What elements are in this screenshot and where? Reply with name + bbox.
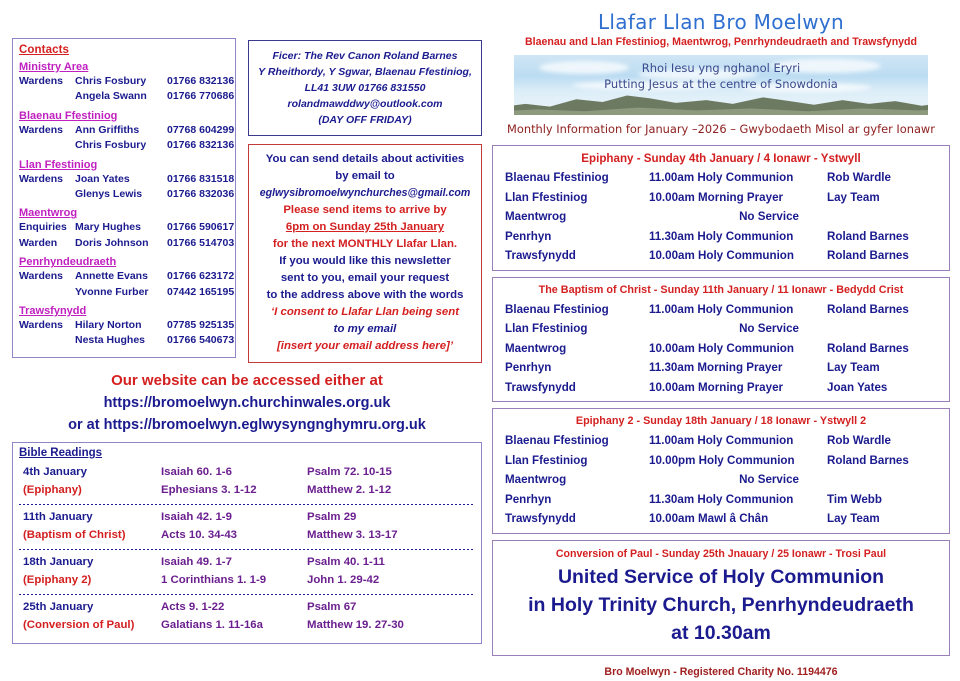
service-schedule-list: Epiphany - Sunday 4th January / 4 Ionawr…	[492, 145, 950, 534]
service-church-name: Penrhyn	[499, 358, 649, 378]
bible-reading-row: (Epiphany)Ephesians 3. 1-12Matthew 2. 1-…	[19, 481, 475, 499]
banner-motto: Rhoi Iesu yng nghanol Eryri Putting Jesu…	[514, 60, 928, 92]
service-church-name: Penrhyn	[499, 227, 649, 247]
newsletter-page: Contacts Ministry AreaWardensChris Fosbu…	[0, 0, 960, 679]
vicar-day-off: (DAY OFF FRIDAY)	[255, 112, 475, 128]
bible-reading-group: 11th JanuaryIsaiah 42. 1-9Psalm 29(Bapti…	[19, 506, 475, 547]
contact-phone: 01766 832136	[167, 74, 234, 89]
contact-name: Joan Yates	[75, 172, 167, 187]
reading-psalm: Psalm 67	[307, 598, 475, 616]
contact-row: EnquiriesMary Hughes01766 590617	[19, 220, 229, 235]
bible-reading-group: 25th JanuaryActs 9. 1-22Psalm 67(Convers…	[19, 596, 475, 637]
bible-reading-group: 4th JanuaryIsaiah 60. 1-6Psalm 72. 10-15…	[19, 461, 475, 502]
contact-name: Glenys Lewis	[75, 187, 167, 202]
vicar-address-2: LL41 3UW 01766 831550	[255, 80, 475, 96]
service-row: Penrhyn11.30am Holy CommunionRoland Barn…	[499, 227, 943, 247]
contact-row: WardenDoris Johnson01766 514703	[19, 236, 229, 251]
monthly-info-line: Monthly Information for January –2026 – …	[492, 119, 950, 139]
service-row: Blaenau Ffestiniog11.00am Holy Communion…	[499, 300, 943, 320]
contact-phone: 01766 832136	[167, 138, 234, 153]
contact-phone: 01766 590617	[167, 220, 234, 235]
contacts-box: Contacts Ministry AreaWardensChris Fosbu…	[12, 38, 236, 358]
service-leader: Rob Wardle	[827, 168, 943, 188]
service-leader	[827, 319, 943, 339]
contact-row: Yvonne Furber07442 165195	[19, 285, 229, 300]
service-time-and-type: 11.00am Holy Communion	[649, 168, 827, 188]
contact-name: Doris Johnson	[75, 236, 167, 251]
submissions-email[interactable]: eglwysibromoelwynchurches@gmail.com	[253, 185, 477, 202]
bible-readings-list: 4th JanuaryIsaiah 60. 1-6Psalm 72. 10-15…	[19, 461, 475, 637]
contact-row: Angela Swann01766 770686	[19, 89, 229, 104]
service-time-and-type: 11.30am Morning Prayer	[649, 358, 827, 378]
contact-role	[19, 89, 75, 104]
contacts-area-title: Llan Ffestiniog	[19, 159, 229, 171]
service-leader: Tim Webb	[827, 490, 943, 510]
reading-first: Isaiah 49. 1-7	[161, 553, 307, 571]
banner-motto-english: Putting Jesus at the centre of Snowdonia	[514, 76, 928, 92]
service-leader: Roland Barnes	[827, 227, 943, 247]
website-section: Our website can be accessed either at ht…	[12, 370, 482, 436]
contact-name: Chris Fosbury	[75, 74, 167, 89]
service-church-name: Trawsfynydd	[499, 246, 649, 266]
consent-line-2: to my email	[253, 321, 477, 338]
contact-row: WardensJoan Yates01766 831518	[19, 172, 229, 187]
notice-line-6: If you would like this newsletter	[253, 253, 477, 270]
service-time-and-type: No Service	[649, 319, 827, 339]
reading-epistle: 1 Corinthians 1. 1-9	[161, 571, 307, 589]
service-church-name: Llan Ffestiniog	[499, 188, 649, 208]
service-time-and-type: 11.00am Holy Communion	[649, 431, 827, 451]
reading-date: 18th January	[19, 553, 161, 571]
service-schedule-block: Epiphany 2 - Sunday 18th January / 18 Io…	[492, 408, 950, 534]
bible-readings-box: Bible Readings 4th JanuaryIsaiah 60. 1-6…	[12, 442, 482, 644]
service-row: Llan FfestiniogNo Service	[499, 319, 943, 339]
reading-date: 4th January	[19, 463, 161, 481]
service-leader: Lay Team	[827, 358, 943, 378]
reading-season: (Conversion of Paul)	[19, 616, 161, 634]
contact-phone: 01766 770686	[167, 89, 234, 104]
united-service-heading: Conversion of Paul - Sunday 25th Jnauary…	[499, 545, 943, 563]
service-church-name: Trawsfynydd	[499, 509, 649, 529]
service-time-and-type: 10.00am Holy Communion	[649, 339, 827, 359]
parish-subtitle: Blaenau and Llan Ffestiniog, Maentwrog, …	[492, 34, 950, 51]
service-church-name: Blaenau Ffestiniog	[499, 431, 649, 451]
notice-deadline-outro: for the next MONTHLY Llafar Llan.	[253, 236, 477, 253]
service-time-and-type: 10.00am Morning Prayer	[649, 188, 827, 208]
bible-reading-group: 18th JanuaryIsaiah 49. 1-7Psalm 40. 1-11…	[19, 551, 475, 592]
service-row: Maentwrog10.00am Holy CommunionRoland Ba…	[499, 339, 943, 359]
reading-season: (Epiphany)	[19, 481, 161, 499]
contact-phone: 01766 514703	[167, 236, 234, 251]
contact-name: Hilary Norton	[75, 318, 167, 333]
united-service-line-2: in Holy Trinity Church, Penrhyndeudraeth	[499, 591, 943, 619]
service-time-and-type: 10.00am Holy Communion	[649, 246, 827, 266]
contact-row: WardensAnn Griffiths07768 604299	[19, 123, 229, 138]
bible-reading-row: 4th JanuaryIsaiah 60. 1-6Psalm 72. 10-15	[19, 463, 475, 481]
service-time-and-type: No Service	[649, 207, 827, 227]
contact-role: Warden	[19, 236, 75, 251]
contact-role: Wardens	[19, 318, 75, 333]
service-leader	[827, 207, 943, 227]
contact-name: Yvonne Furber	[75, 285, 167, 300]
service-row: Blaenau Ffestiniog11.00am Holy Communion…	[499, 431, 943, 451]
contacts-group: Llan FfestiniogWardensJoan Yates01766 83…	[19, 159, 229, 203]
bible-reading-row: 18th JanuaryIsaiah 49. 1-7Psalm 40. 1-11	[19, 553, 475, 571]
vicar-name: Ficer: The Rev Canon Roland Barnes	[255, 48, 475, 64]
service-church-name: Trawsfynydd	[499, 378, 649, 398]
service-row: Penrhyn11.30am Holy CommunionTim Webb	[499, 490, 943, 510]
reading-psalm: Psalm 40. 1-11	[307, 553, 475, 571]
service-row: Llan Ffestiniog10.00am Morning PrayerLay…	[499, 188, 943, 208]
vicar-email[interactable]: rolandmawddwy@outlook.com	[255, 96, 475, 112]
service-time-and-type: 11.30am Holy Communion	[649, 227, 827, 247]
contact-name: Chris Fosbury	[75, 138, 167, 153]
service-row: Trawsfynydd10.00am Holy CommunionRoland …	[499, 246, 943, 266]
notice-deadline-date: 6pm on Sunday 25th January	[253, 219, 477, 236]
service-church-name: Maentwrog	[499, 207, 649, 227]
service-block-heading: Epiphany 2 - Sunday 18th January / 18 Io…	[499, 412, 943, 431]
contact-role	[19, 187, 75, 202]
bible-reading-row: (Conversion of Paul)Galatians 1. 11-16aM…	[19, 616, 475, 634]
reading-season: (Epiphany 2)	[19, 571, 161, 589]
service-schedule-block: The Baptism of Christ - Sunday 11th Janu…	[492, 277, 950, 403]
service-row: Penrhyn11.30am Morning PrayerLay Team	[499, 358, 943, 378]
contacts-area-title: Penrhyndeudraeth	[19, 256, 229, 268]
united-service-line-1: United Service of Holy Communion	[499, 563, 943, 591]
contacts-title: Contacts	[19, 44, 229, 56]
notice-line-7: sent to you, email your request	[253, 270, 477, 287]
service-leader: Roland Barnes	[827, 451, 943, 471]
contact-role: Wardens	[19, 269, 75, 284]
service-time-and-type: No Service	[649, 470, 827, 490]
service-schedule-block: Epiphany - Sunday 4th January / 4 Ionawr…	[492, 145, 950, 271]
contact-name: Nesta Hughes	[75, 333, 167, 348]
service-row: MaentwrogNo Service	[499, 470, 943, 490]
consent-line-3: [insert your email address here]’	[253, 338, 477, 355]
service-leader: Roland Barnes	[827, 246, 943, 266]
service-leader: Roland Barnes	[827, 339, 943, 359]
reading-gospel: Matthew 19. 27-30	[307, 616, 475, 634]
banner-motto-welsh: Rhoi Iesu yng nghanol Eryri	[514, 60, 928, 76]
notice-line-1: You can send details about activities	[253, 151, 477, 168]
service-time-and-type: 10.00am Mawl â Chân	[649, 509, 827, 529]
charity-registration-footer: Bro Moelwyn - Registered Charity No. 119…	[492, 663, 950, 681]
reading-first: Acts 9. 1-22	[161, 598, 307, 616]
contacts-group: Blaenau FfestiniogWardensAnn Griffiths07…	[19, 110, 229, 154]
bible-reading-row: (Baptism of Christ)Acts 10. 34-43Matthew…	[19, 526, 475, 544]
contact-row: WardensAnnette Evans01766 623172	[19, 269, 229, 284]
service-church-name: Blaenau Ffestiniog	[499, 300, 649, 320]
contact-phone: 01766 540673	[167, 333, 234, 348]
submissions-notice-box: You can send details about activities by…	[248, 144, 482, 363]
service-leader	[827, 470, 943, 490]
reading-gospel: Matthew 2. 1-12	[307, 481, 475, 499]
contact-phone: 07768 604299	[167, 123, 234, 138]
service-church-name: Llan Ffestiniog	[499, 319, 649, 339]
right-column: Llafar Llan Bro Moelwyn Blaenau and Llan…	[492, 10, 950, 681]
contact-row: Nesta Hughes01766 540673	[19, 333, 229, 348]
contact-name: Annette Evans	[75, 269, 167, 284]
service-church-name: Blaenau Ffestiniog	[499, 168, 649, 188]
service-row: Blaenau Ffestiniog11.00am Holy Communion…	[499, 168, 943, 188]
united-service-box: Conversion of Paul - Sunday 25th Jnauary…	[492, 540, 950, 656]
contact-row: WardensHilary Norton07785 925135	[19, 318, 229, 333]
mountain-ridge-icon	[514, 89, 928, 115]
reading-epistle: Galatians 1. 11-16a	[161, 616, 307, 634]
notice-line-8: to the address above with the words	[253, 287, 477, 304]
service-row: Llan Ffestiniog10.00pm Holy CommunionRol…	[499, 451, 943, 471]
reading-season: (Baptism of Christ)	[19, 526, 161, 544]
contacts-group-list: Ministry AreaWardensChris Fosbury01766 8…	[19, 61, 229, 349]
reading-gospel: Matthew 3. 13-17	[307, 526, 475, 544]
contact-row: WardensChris Fosbury01766 832136	[19, 74, 229, 89]
contacts-group: Ministry AreaWardensChris Fosbury01766 8…	[19, 61, 229, 105]
contact-role: Wardens	[19, 172, 75, 187]
contact-phone: 01766 832036	[167, 187, 234, 202]
reading-first: Isaiah 42. 1-9	[161, 508, 307, 526]
contact-role	[19, 333, 75, 348]
contacts-area-title: Ministry Area	[19, 61, 229, 73]
bible-reading-row: (Epiphany 2)1 Corinthians 1. 1-9John 1. …	[19, 571, 475, 589]
service-church-name: Maentwrog	[499, 470, 649, 490]
bible-readings-title: Bible Readings	[19, 447, 475, 459]
notice-deadline-intro: Please send items to arrive by	[253, 202, 477, 219]
reading-epistle: Acts 10. 34-43	[161, 526, 307, 544]
service-church-name: Llan Ffestiniog	[499, 451, 649, 471]
service-row: Trawsfynydd10.00am Morning PrayerJoan Ya…	[499, 378, 943, 398]
service-row: Trawsfynydd10.00am Mawl â ChânLay Team	[499, 509, 943, 529]
contact-name: Mary Hughes	[75, 220, 167, 235]
service-row: MaentwrogNo Service	[499, 207, 943, 227]
service-time-and-type: 10.00am Morning Prayer	[649, 378, 827, 398]
service-block-heading: The Baptism of Christ - Sunday 11th Janu…	[499, 281, 943, 300]
contacts-area-title: Trawsfynydd	[19, 305, 229, 317]
contact-name: Angela Swann	[75, 89, 167, 104]
contact-name: Ann Griffiths	[75, 123, 167, 138]
bible-reading-row: 25th JanuaryActs 9. 1-22Psalm 67	[19, 598, 475, 616]
contacts-group: PenrhyndeudraethWardensAnnette Evans0176…	[19, 256, 229, 300]
reading-first: Isaiah 60. 1-6	[161, 463, 307, 481]
service-time-and-type: 11.00am Holy Communion	[649, 300, 827, 320]
vicar-address-1: Y Rheithordy, Y Sgwar, Blaenau Ffestinio…	[255, 64, 475, 80]
contacts-group: TrawsfynyddWardensHilary Norton07785 925…	[19, 305, 229, 349]
reading-date: 11th January	[19, 508, 161, 526]
contact-role: Enquiries	[19, 220, 75, 235]
bible-reading-row: 11th JanuaryIsaiah 42. 1-9Psalm 29	[19, 508, 475, 526]
page-title: Llafar Llan Bro Moelwyn	[492, 10, 950, 34]
website-url-2[interactable]: or at https://bromoelwyn.eglwysyngnghymr…	[12, 414, 482, 436]
notice-line-2: by email to	[253, 168, 477, 185]
contact-role	[19, 138, 75, 153]
service-leader: Lay Team	[827, 188, 943, 208]
service-block-heading: Epiphany - Sunday 4th January / 4 Ionawr…	[499, 149, 943, 168]
reading-psalm: Psalm 29	[307, 508, 475, 526]
contact-role: Wardens	[19, 74, 75, 89]
reading-date: 25th January	[19, 598, 161, 616]
contact-phone: 07442 165195	[167, 285, 234, 300]
united-service-line-3: at 10.30am	[499, 619, 943, 647]
service-church-name: Penrhyn	[499, 490, 649, 510]
service-leader: Rob Wardle	[827, 431, 943, 451]
contact-phone: 07785 925135	[167, 318, 234, 333]
service-leader: Lay Team	[827, 509, 943, 529]
consent-line-1: ‘I consent to Llafar Llan being sent	[253, 304, 477, 321]
contacts-area-title: Maentwrog	[19, 207, 229, 219]
service-time-and-type: 10.00pm Holy Communion	[649, 451, 827, 471]
contact-row: Glenys Lewis01766 832036	[19, 187, 229, 202]
service-time-and-type: 11.30am Holy Communion	[649, 490, 827, 510]
service-leader: Joan Yates	[827, 378, 943, 398]
masthead: Llafar Llan Bro Moelwyn Blaenau and Llan…	[492, 10, 950, 51]
service-church-name: Maentwrog	[499, 339, 649, 359]
website-intro: Our website can be accessed either at	[12, 370, 482, 392]
contacts-group: MaentwrogEnquiriesMary Hughes01766 59061…	[19, 207, 229, 251]
contact-role: Wardens	[19, 123, 75, 138]
contact-phone: 01766 623172	[167, 269, 234, 284]
reading-epistle: Ephesians 3. 1-12	[161, 481, 307, 499]
reading-psalm: Psalm 72. 10-15	[307, 463, 475, 481]
snowdonia-banner-image: Rhoi Iesu yng nghanol Eryri Putting Jesu…	[514, 55, 928, 115]
vicar-contact-box: Ficer: The Rev Canon Roland Barnes Y Rhe…	[248, 40, 482, 136]
reading-gospel: John 1. 29-42	[307, 571, 475, 589]
contact-phone: 01766 831518	[167, 172, 234, 187]
contact-role	[19, 285, 75, 300]
website-url-1[interactable]: https://bromoelwyn.churchinwales.org.uk	[12, 392, 482, 414]
contacts-area-title: Blaenau Ffestiniog	[19, 110, 229, 122]
contact-row: Chris Fosbury01766 832136	[19, 138, 229, 153]
service-leader: Roland Barnes	[827, 300, 943, 320]
